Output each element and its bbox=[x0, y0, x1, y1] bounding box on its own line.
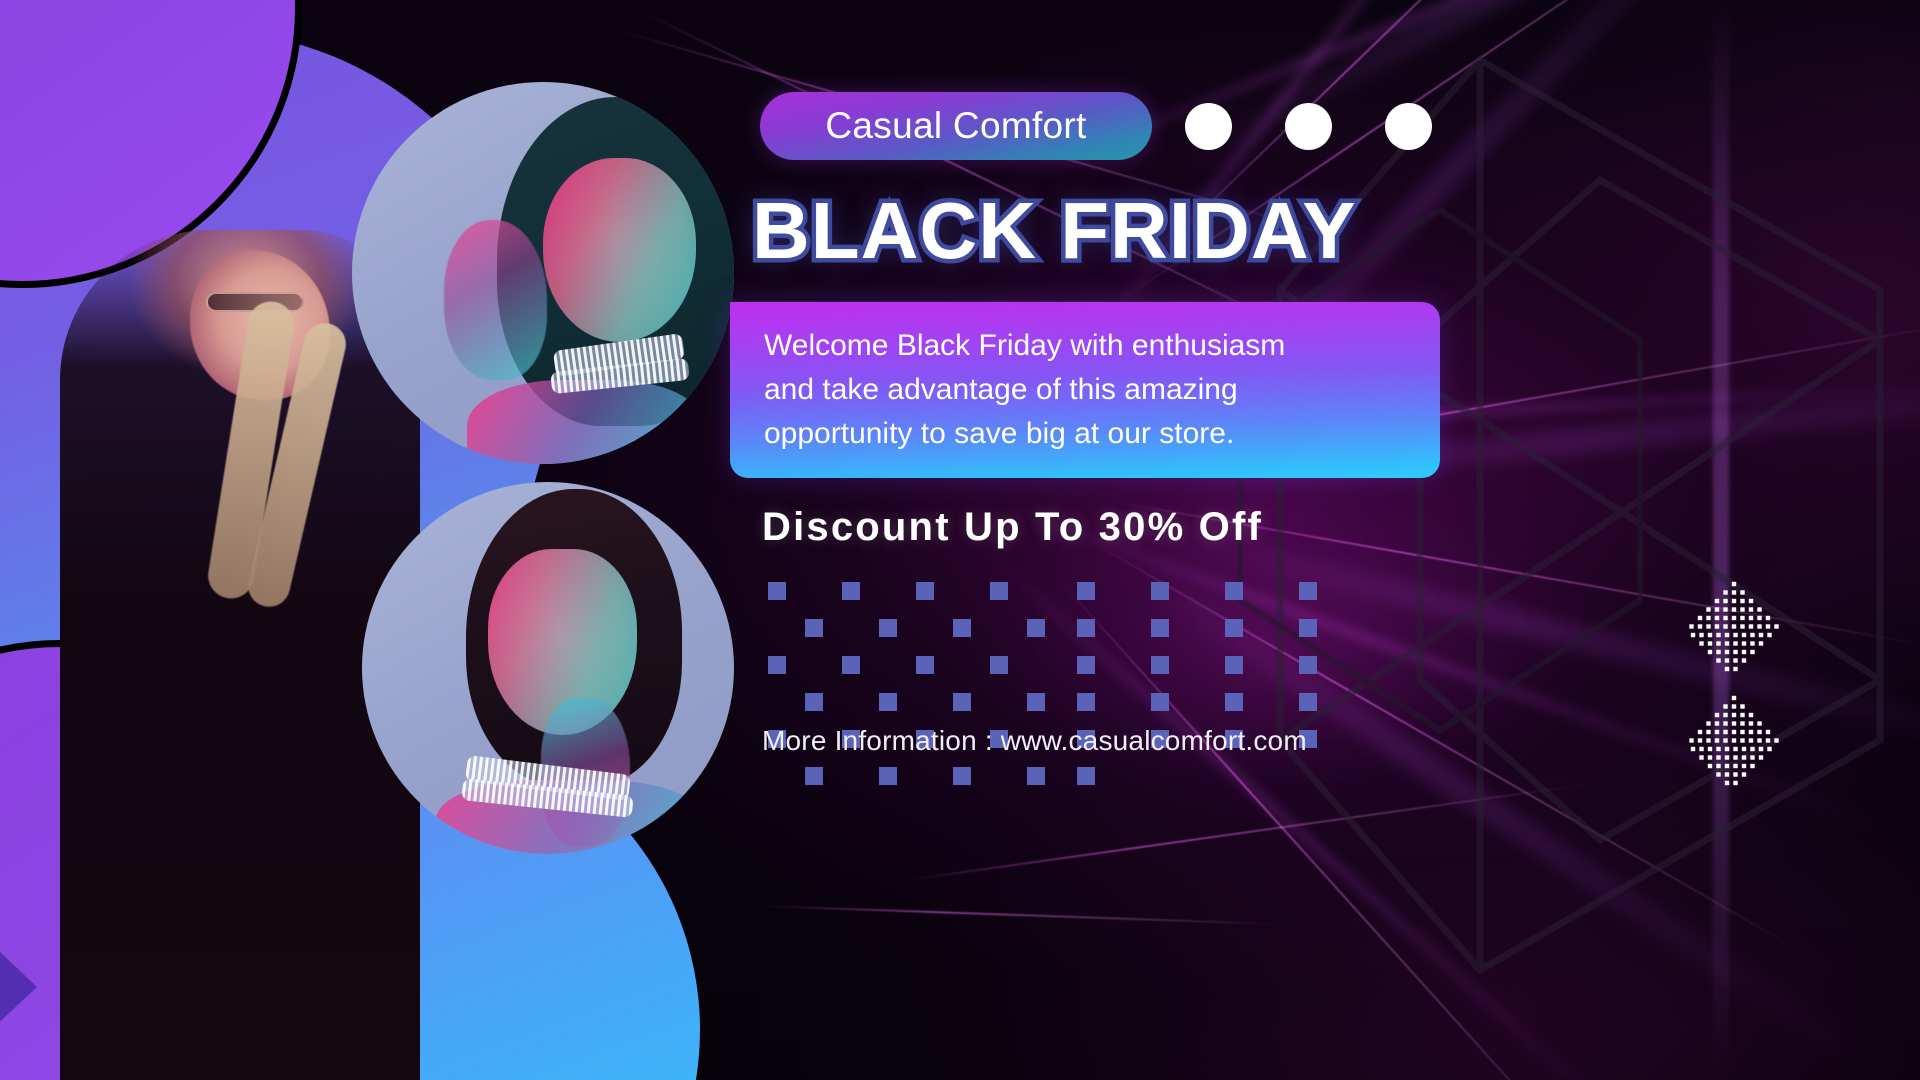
diamond-dot bbox=[1740, 599, 1744, 603]
diamond-dot bbox=[1723, 704, 1727, 708]
discount-headline: Discount Up To 30% Off bbox=[762, 505, 1263, 550]
checker-gap bbox=[953, 582, 971, 600]
diamond-dot bbox=[1715, 607, 1719, 611]
diamond-dot bbox=[1749, 730, 1753, 734]
checker-square bbox=[1299, 582, 1317, 600]
dotted-diamond-group bbox=[1672, 572, 1802, 822]
checker-gap bbox=[990, 619, 1008, 637]
diamond-dot bbox=[1715, 599, 1719, 603]
checker-square bbox=[1151, 582, 1169, 600]
diamond-dot bbox=[1742, 764, 1746, 768]
checker-gap bbox=[1188, 582, 1206, 600]
diamond-dot bbox=[1740, 738, 1744, 742]
promo-line-3: opportunity to save big at our store. bbox=[764, 412, 1406, 456]
checker-square bbox=[953, 693, 971, 711]
diamond-dot bbox=[1715, 616, 1719, 620]
diamond-dot bbox=[1759, 755, 1763, 759]
diamond-dot bbox=[1766, 730, 1770, 734]
diamond-dot bbox=[1733, 658, 1737, 662]
diamond-dot bbox=[1706, 624, 1710, 628]
checker-square bbox=[842, 582, 860, 600]
diamond-dot bbox=[1733, 781, 1737, 785]
diamond-dot bbox=[1740, 721, 1744, 725]
diamond-dot bbox=[1716, 658, 1720, 662]
diamond-dot bbox=[1750, 633, 1754, 637]
checker-gap bbox=[953, 656, 971, 674]
checker-gap bbox=[916, 767, 934, 785]
checker-gap bbox=[990, 767, 1008, 785]
diamond-dot bbox=[1698, 730, 1702, 734]
diamond-dot bbox=[1742, 641, 1746, 645]
checker-square bbox=[1151, 656, 1169, 674]
checker-square bbox=[1225, 619, 1243, 637]
diamond-dot bbox=[1716, 633, 1720, 637]
diamond-dot bbox=[1723, 616, 1727, 620]
diamond-dot bbox=[1757, 721, 1761, 725]
checker-square bbox=[1027, 619, 1045, 637]
checker-gap bbox=[1336, 730, 1354, 748]
diamond-dot bbox=[1691, 633, 1695, 637]
diamond-dot bbox=[1732, 696, 1736, 700]
checker-gap bbox=[990, 693, 1008, 711]
diamond-dot bbox=[1750, 755, 1754, 759]
diamond-dot bbox=[1699, 747, 1703, 751]
checker-square bbox=[768, 582, 786, 600]
checker-gap bbox=[1114, 619, 1132, 637]
checker-square bbox=[916, 582, 934, 600]
diamond-dot bbox=[1742, 747, 1746, 751]
more-information: More Information : www.casualcomfort.com bbox=[762, 725, 1307, 757]
diamond-dot bbox=[1733, 641, 1737, 645]
diamond-dot bbox=[1757, 607, 1761, 611]
diamond-dot bbox=[1732, 590, 1736, 594]
diamond-dot bbox=[1725, 633, 1729, 637]
diamond-dot bbox=[1725, 667, 1729, 671]
diamond-dot bbox=[1716, 641, 1720, 645]
checker-square bbox=[953, 767, 971, 785]
diamond-dot bbox=[1725, 747, 1729, 751]
checker-square bbox=[1151, 619, 1169, 637]
checker-square bbox=[1027, 767, 1045, 785]
checker-square bbox=[1077, 656, 1095, 674]
diamond-dot bbox=[1749, 624, 1753, 628]
checker-square bbox=[1225, 693, 1243, 711]
diamond-dot bbox=[1740, 730, 1744, 734]
promo-line-1: Welcome Black Friday with enthusiasm bbox=[764, 324, 1406, 368]
diamond-dot bbox=[1757, 738, 1761, 742]
checker-square bbox=[1299, 656, 1317, 674]
diamond-dot bbox=[1740, 607, 1744, 611]
diamond-dot bbox=[1689, 624, 1693, 628]
diamond-dot bbox=[1716, 772, 1720, 776]
diamond-dot bbox=[1698, 738, 1702, 742]
checker-square bbox=[1077, 693, 1095, 711]
diamond-dot bbox=[1750, 641, 1754, 645]
vertical-streak bbox=[1713, 0, 1729, 1080]
diamond-dot bbox=[1750, 650, 1754, 654]
diamond-dot bbox=[1716, 747, 1720, 751]
checker-gap bbox=[1188, 619, 1206, 637]
diamond-dot bbox=[1723, 738, 1727, 742]
diamond-dot bbox=[1706, 607, 1710, 611]
checker-gap bbox=[1114, 767, 1132, 785]
checker-gap bbox=[1336, 582, 1354, 600]
diamond-dot bbox=[1706, 738, 1710, 742]
diamond-dot bbox=[1732, 721, 1736, 725]
diamond-dot bbox=[1725, 650, 1729, 654]
diamond-dot bbox=[1691, 747, 1695, 751]
diamond-dot bbox=[1715, 738, 1719, 742]
diamond-dot bbox=[1757, 616, 1761, 620]
checker-gap bbox=[1114, 656, 1132, 674]
diamond-dot bbox=[1723, 721, 1727, 725]
checker-square bbox=[879, 693, 897, 711]
checker-gap bbox=[1262, 582, 1280, 600]
checker-gap bbox=[805, 582, 823, 600]
diamond-dot bbox=[1766, 616, 1770, 620]
diamond-dot bbox=[1767, 747, 1771, 751]
diamond-dot bbox=[1708, 633, 1712, 637]
diamond-dot bbox=[1715, 721, 1719, 725]
diamond-dot bbox=[1766, 624, 1770, 628]
diamond-dot bbox=[1740, 590, 1744, 594]
diamond-dot bbox=[1723, 599, 1727, 603]
checker-gap bbox=[1114, 582, 1132, 600]
model-photo-circle-top bbox=[352, 82, 734, 464]
diamond-dot bbox=[1742, 658, 1746, 662]
diamond-dot bbox=[1732, 738, 1736, 742]
checker-gap bbox=[768, 767, 786, 785]
diamond-dot bbox=[1733, 650, 1737, 654]
diamond-dot bbox=[1750, 764, 1754, 768]
checker-gap bbox=[879, 582, 897, 600]
diamond-dot bbox=[1733, 747, 1737, 751]
checker-gap bbox=[1188, 656, 1206, 674]
checker-square bbox=[768, 656, 786, 674]
checker-gap bbox=[842, 767, 860, 785]
diamond-dot bbox=[1708, 747, 1712, 751]
checker-square bbox=[879, 767, 897, 785]
checker-square bbox=[842, 656, 860, 674]
diamond-dot bbox=[1742, 755, 1746, 759]
diamond-dot bbox=[1732, 624, 1736, 628]
checker-gap bbox=[916, 693, 934, 711]
checker-square bbox=[1077, 582, 1095, 600]
diamond-dot bbox=[1732, 730, 1736, 734]
diamond-dot bbox=[1708, 641, 1712, 645]
model-photo-circle-bottom bbox=[362, 482, 734, 854]
diamond-dot bbox=[1749, 713, 1753, 717]
diamond-dot bbox=[1749, 721, 1753, 725]
checker-gap bbox=[916, 619, 934, 637]
decorative-dot bbox=[1285, 103, 1332, 150]
diamond-dot bbox=[1733, 772, 1737, 776]
diamond-dot bbox=[1725, 755, 1729, 759]
diamond-dot bbox=[1715, 713, 1719, 717]
diamond-dot bbox=[1750, 747, 1754, 751]
checker-square bbox=[1299, 619, 1317, 637]
checker-square bbox=[1299, 693, 1317, 711]
diamond-dot bbox=[1732, 704, 1736, 708]
diamond-dot bbox=[1706, 721, 1710, 725]
checker-gap bbox=[1262, 656, 1280, 674]
brand-tag: Casual Comfort bbox=[760, 92, 1152, 160]
promo-line-2: and take advantage of this amazing bbox=[764, 368, 1406, 412]
diamond-dot bbox=[1774, 624, 1778, 628]
checker-gap bbox=[1027, 582, 1045, 600]
checker-gap bbox=[1336, 693, 1354, 711]
promo-message-box: Welcome Black Friday with enthusiasm and… bbox=[730, 302, 1440, 478]
decorative-dot bbox=[1185, 103, 1232, 150]
checker-gap bbox=[1027, 656, 1045, 674]
checker-square bbox=[879, 619, 897, 637]
diamond-dot bbox=[1725, 764, 1729, 768]
diamond-dot bbox=[1715, 624, 1719, 628]
checker-gap bbox=[1262, 619, 1280, 637]
checker-square bbox=[805, 767, 823, 785]
diamond-dot bbox=[1732, 616, 1736, 620]
diamond-dot bbox=[1742, 650, 1746, 654]
checker-gap bbox=[879, 656, 897, 674]
diamond-dot bbox=[1749, 599, 1753, 603]
checker-gap bbox=[1188, 693, 1206, 711]
diamond-dot bbox=[1716, 755, 1720, 759]
diamond-dot bbox=[1708, 764, 1712, 768]
diamond-dot bbox=[1725, 781, 1729, 785]
diamond-dot bbox=[1732, 607, 1736, 611]
diamond-dot bbox=[1740, 704, 1744, 708]
checker-square bbox=[990, 656, 1008, 674]
promo-banner: Casual Comfort BLACK FRIDAY Welcome Blac… bbox=[0, 0, 1920, 1080]
diamond-dot bbox=[1716, 650, 1720, 654]
checker-square bbox=[1077, 767, 1095, 785]
diamond-dot bbox=[1759, 641, 1763, 645]
brand-tag-label: Casual Comfort bbox=[825, 105, 1086, 147]
diamond-dot bbox=[1699, 641, 1703, 645]
checker-gap bbox=[768, 619, 786, 637]
diamond-dot bbox=[1706, 616, 1710, 620]
diamond-dot bbox=[1723, 713, 1727, 717]
checker-gap bbox=[842, 619, 860, 637]
diamond-dot bbox=[1708, 755, 1712, 759]
checker-square bbox=[1151, 693, 1169, 711]
diamond-dot bbox=[1774, 738, 1778, 742]
diamond-dot bbox=[1698, 616, 1702, 620]
diamond-dot bbox=[1725, 658, 1729, 662]
diamond-dot bbox=[1723, 590, 1727, 594]
checker-square bbox=[1027, 693, 1045, 711]
diamond-dot bbox=[1689, 738, 1693, 742]
diamond-dot bbox=[1733, 667, 1737, 671]
checker-gap bbox=[805, 656, 823, 674]
diamond-dot bbox=[1698, 624, 1702, 628]
diamond-dot bbox=[1716, 764, 1720, 768]
diamond-dot bbox=[1749, 607, 1753, 611]
checker-gap bbox=[1336, 619, 1354, 637]
diamond-dot bbox=[1767, 633, 1771, 637]
checker-gap bbox=[1336, 656, 1354, 674]
diamond-dot bbox=[1742, 772, 1746, 776]
diamond-dot bbox=[1725, 641, 1729, 645]
diamond-dot bbox=[1733, 633, 1737, 637]
diamond-dot bbox=[1732, 599, 1736, 603]
diamond-dot bbox=[1723, 607, 1727, 611]
diamond-dot bbox=[1757, 730, 1761, 734]
page-title: BLACK FRIDAY bbox=[752, 185, 1452, 277]
chevron-icon bbox=[0, 0, 139, 149]
diamond-dot bbox=[1723, 624, 1727, 628]
diamond-dot bbox=[1723, 730, 1727, 734]
diamond-dot bbox=[1699, 633, 1703, 637]
diamond-dot bbox=[1749, 738, 1753, 742]
checker-square bbox=[805, 619, 823, 637]
checker-square bbox=[1225, 656, 1243, 674]
diamond-dot bbox=[1757, 624, 1761, 628]
diamond-dot bbox=[1740, 624, 1744, 628]
checker-square bbox=[990, 582, 1008, 600]
diamond-dot bbox=[1766, 738, 1770, 742]
checker-square bbox=[1225, 582, 1243, 600]
checker-gap bbox=[1114, 693, 1132, 711]
decorative-dot bbox=[1385, 103, 1432, 150]
diamond-dot bbox=[1733, 755, 1737, 759]
diamond-dot bbox=[1749, 616, 1753, 620]
diamond-dot bbox=[1699, 755, 1703, 759]
diamond-dot bbox=[1759, 747, 1763, 751]
diamond-dot bbox=[1715, 730, 1719, 734]
diamond-dot bbox=[1733, 764, 1737, 768]
diamond-dot bbox=[1742, 633, 1746, 637]
checker-gap bbox=[768, 693, 786, 711]
diamond-dot bbox=[1740, 713, 1744, 717]
diamond-dot bbox=[1759, 633, 1763, 637]
diamond-dot bbox=[1725, 772, 1729, 776]
checker-square bbox=[953, 619, 971, 637]
diamond-dot bbox=[1740, 616, 1744, 620]
diamond-dot bbox=[1732, 713, 1736, 717]
checker-square bbox=[1077, 619, 1095, 637]
checker-square bbox=[916, 656, 934, 674]
checker-square bbox=[805, 693, 823, 711]
decorative-dots bbox=[1185, 103, 1432, 150]
checker-gap bbox=[842, 693, 860, 711]
diamond-dot bbox=[1706, 730, 1710, 734]
diamond-dot bbox=[1708, 650, 1712, 654]
diamond-dot bbox=[1732, 582, 1736, 586]
checker-gap bbox=[1262, 693, 1280, 711]
